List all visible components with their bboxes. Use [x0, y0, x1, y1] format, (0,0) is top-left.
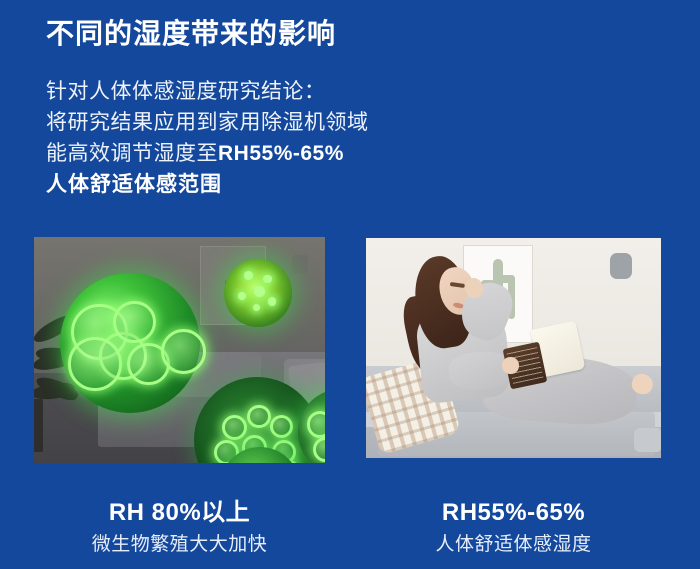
microbe-cell	[313, 437, 325, 462]
microbe-cell	[307, 411, 325, 438]
photo-dim-room-with-green-microbes	[34, 237, 325, 463]
intro-line-3: 能高效调节湿度至RH55%-65%	[46, 138, 369, 169]
microbe-dot	[238, 292, 246, 300]
microbe-dot	[254, 286, 265, 297]
microbe-sphere-top-right	[224, 259, 292, 327]
microbe-dot	[263, 275, 271, 283]
intro-line-4: 人体舒适体感范围	[46, 169, 369, 200]
caption-right-subtitle: 人体舒适体感湿度	[366, 533, 661, 557]
caption-right-title: RH55%-65%	[366, 498, 661, 528]
microbe-cell	[113, 301, 155, 343]
microbe-sphere-large	[60, 273, 200, 413]
intro-line-3-prefix: 能高效调节湿度至	[46, 142, 218, 165]
plant-pot	[34, 399, 43, 451]
microbe-cell	[270, 415, 294, 439]
humidity-range-highlight: RH55%-65%	[218, 142, 344, 165]
humidity-infographic-poster: 不同的湿度带来的影响 针对人体体感湿度研究结论： 将研究结果应用到家用除湿机领域…	[0, 0, 700, 569]
photo-bright-room-woman-reading	[366, 238, 661, 458]
microbe-dot	[268, 297, 277, 306]
intro-line-1: 针对人体体感湿度研究结论：	[46, 76, 369, 107]
microbe-cell	[222, 415, 247, 440]
microbe-cell	[247, 405, 271, 429]
caption-left-subtitle: 微生物繁殖大大加快	[34, 533, 325, 557]
microbe-cell	[68, 337, 122, 391]
page-title: 不同的湿度带来的影响	[46, 16, 336, 52]
microbe-dot	[244, 271, 253, 280]
caption-left: RH 80%以上 微生物繁殖大大加快	[34, 498, 325, 557]
intro-paragraph: 针对人体体感湿度研究结论： 将研究结果应用到家用除湿机领域 能高效调节湿度至RH…	[46, 76, 369, 200]
caption-right: RH55%-65% 人体舒适体感湿度	[366, 498, 661, 557]
dim-room-scene	[34, 237, 325, 463]
wall-speaker-icon	[292, 255, 308, 274]
intro-line-2: 将研究结果应用到家用除湿机领域	[46, 107, 369, 138]
caption-left-title: RH 80%以上	[34, 498, 325, 528]
bright-room-scene	[366, 238, 661, 458]
microbe-dot	[253, 304, 260, 311]
woman-reading	[366, 238, 661, 458]
microbe-cell	[161, 329, 206, 374]
